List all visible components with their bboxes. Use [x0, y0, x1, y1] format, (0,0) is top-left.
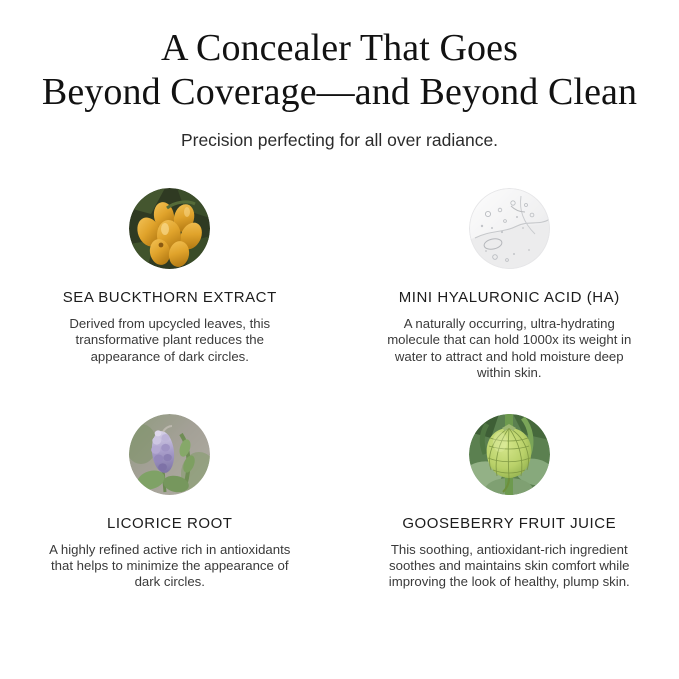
licorice-root-flower-image: [129, 414, 210, 495]
sea-buckthorn-berries-image: [129, 188, 210, 269]
ingredient-benefits-panel: A Concealer That Goes Beyond Coverage—an…: [0, 0, 679, 679]
page-subtitle: Precision perfecting for all over radian…: [0, 128, 679, 152]
hyaluronic-acid-gel-image: [469, 188, 550, 269]
headline-line-1: A Concealer That Goes: [24, 26, 655, 70]
ingredient-card-hyaluronic-acid: MINI HYALURONIC ACID (HA) A naturally oc…: [340, 188, 679, 382]
ingredient-title: GOOSEBERRY FRUIT JUICE: [402, 515, 616, 533]
ingredient-title: MINI HYALURONIC ACID (HA): [399, 289, 620, 307]
ingredient-title: SEA BUCKTHORN EXTRACT: [63, 289, 277, 307]
ingredient-card-gooseberry: GOOSEBERRY FRUIT JUICE This soothing, an…: [340, 412, 679, 591]
ingredient-description: This soothing, antioxidant-rich ingredie…: [383, 542, 635, 591]
headline-line-2: Beyond Coverage—and Beyond Clean: [24, 70, 655, 114]
ingredient-description: A naturally occurring, ultra-hydrating m…: [383, 316, 635, 382]
ingredient-card-sea-buckthorn: SEA BUCKTHORN EXTRACT Derived from upcyc…: [0, 188, 340, 382]
ingredient-title: LICORICE ROOT: [107, 515, 233, 533]
header: A Concealer That Goes Beyond Coverage—an…: [0, 0, 679, 152]
gooseberry-fruit-image: [469, 414, 550, 495]
ingredient-card-licorice-root: LICORICE ROOT A highly refined active ri…: [0, 412, 340, 591]
ingredient-grid: SEA BUCKTHORN EXTRACT Derived from upcyc…: [0, 188, 679, 591]
ingredient-description: Derived from upcycled leaves, this trans…: [44, 316, 296, 365]
ingredient-description: A highly refined active rich in antioxid…: [44, 542, 296, 591]
page-title: A Concealer That Goes Beyond Coverage—an…: [0, 26, 679, 114]
